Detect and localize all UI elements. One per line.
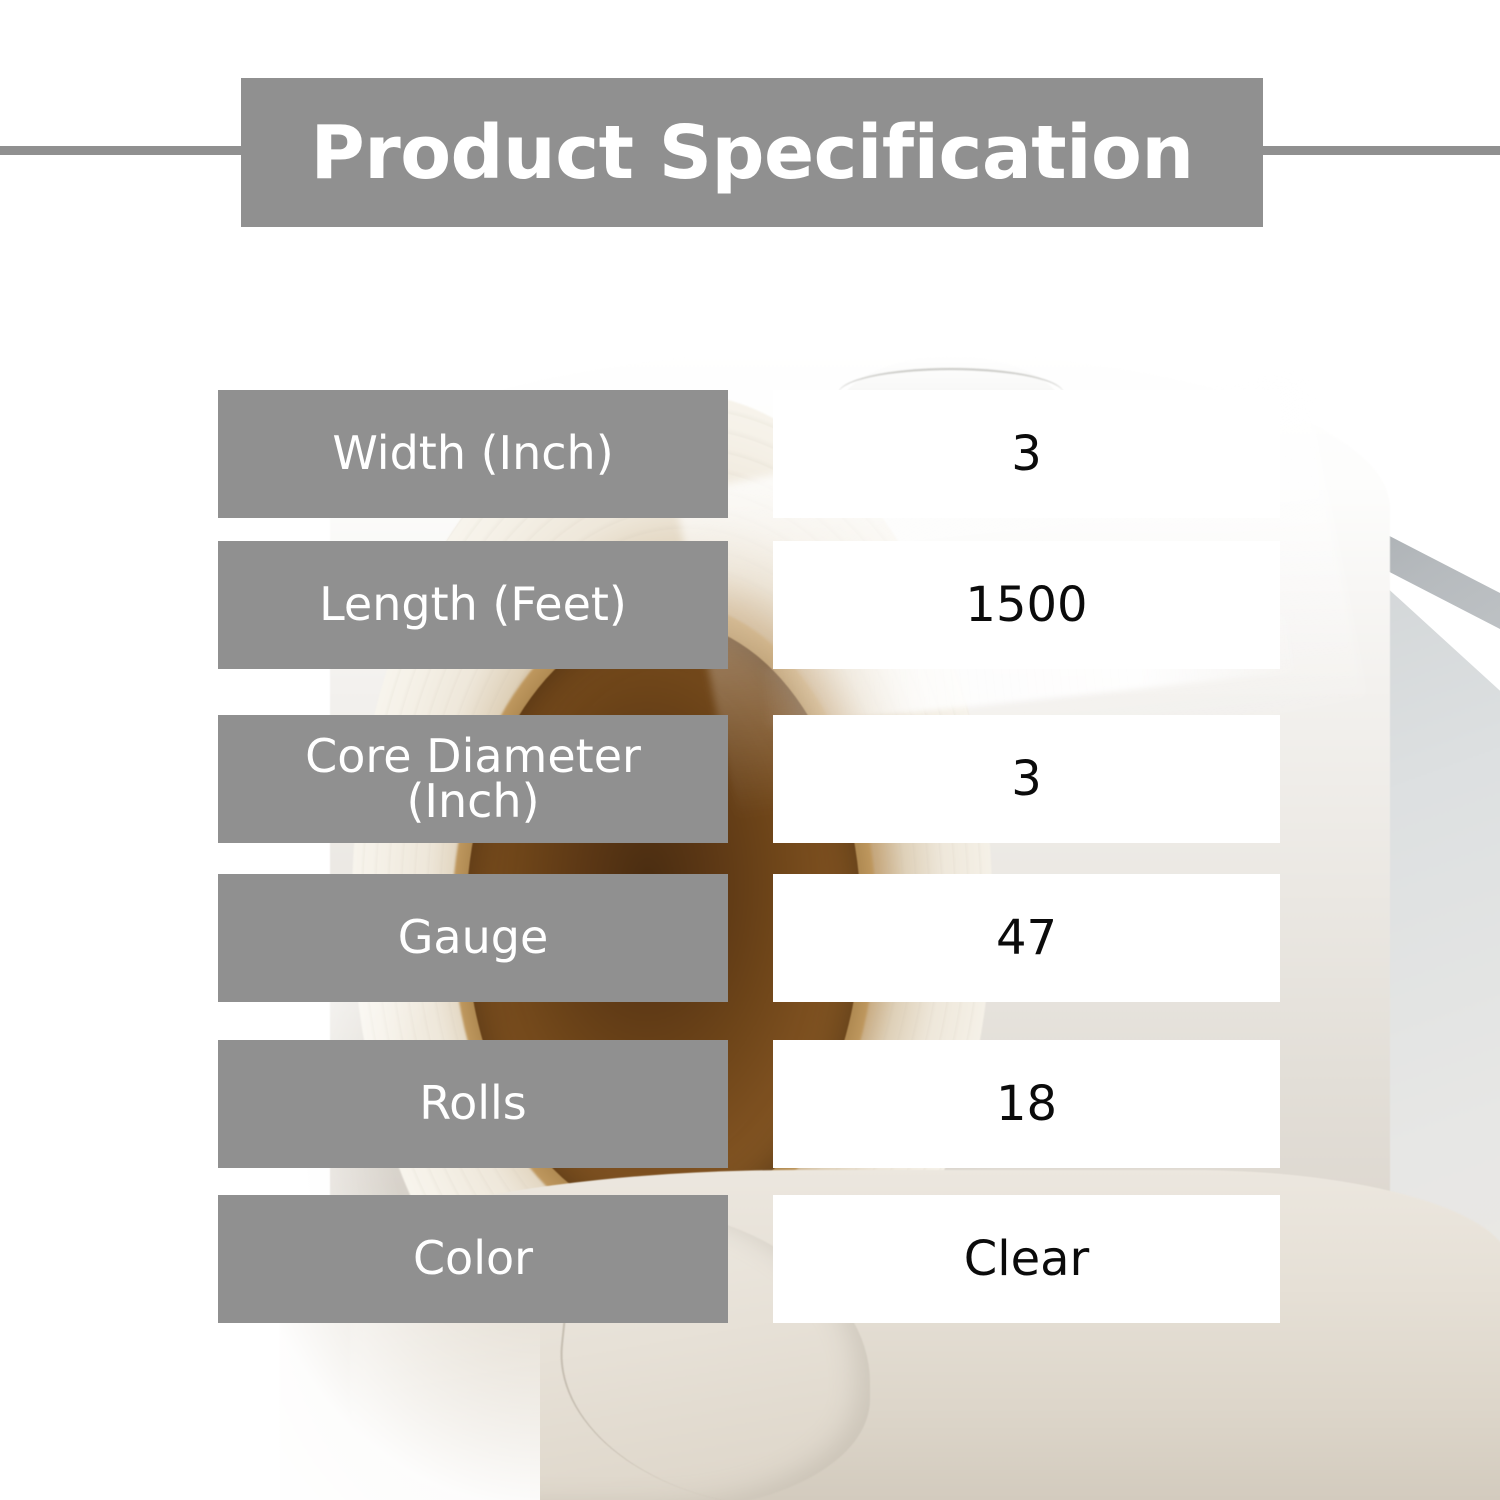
- spec-value-text: 3: [1011, 426, 1042, 482]
- spec-row: ColorClear: [218, 1195, 1280, 1323]
- spec-label-cell: Length (Feet): [218, 541, 728, 669]
- spec-value-text: Clear: [964, 1231, 1090, 1287]
- spec-label-cell: Width (Inch): [218, 390, 728, 518]
- spec-row: Gauge47: [218, 874, 1280, 1002]
- product-specification-page: Product Specification Width (Inch)3Lengt…: [0, 0, 1500, 1500]
- spec-label-text: Length (Feet): [319, 582, 627, 627]
- spec-value-text: 1500: [965, 577, 1087, 633]
- spec-value-text: 18: [996, 1076, 1057, 1132]
- spec-label-cell: Color: [218, 1195, 728, 1323]
- spec-value-cell: 47: [773, 874, 1280, 1002]
- spec-value-cell: 3: [773, 715, 1280, 843]
- spec-value-text: 3: [1011, 751, 1042, 807]
- spec-label-text: Color: [413, 1236, 533, 1281]
- spec-value-text: 47: [996, 910, 1057, 966]
- spec-value-cell: 1500: [773, 541, 1280, 669]
- spec-row: Rolls18: [218, 1040, 1280, 1168]
- spec-row: Core Diameter (Inch)3: [218, 715, 1280, 843]
- spec-label-cell: Gauge: [218, 874, 728, 1002]
- spec-label-text: Gauge: [398, 915, 549, 960]
- spec-label-cell: Core Diameter (Inch): [218, 715, 728, 843]
- spec-label-cell: Rolls: [218, 1040, 728, 1168]
- spec-value-cell: 3: [773, 390, 1280, 518]
- spec-label-text: Core Diameter (Inch): [305, 734, 641, 824]
- spec-label-text: Rolls: [419, 1081, 527, 1126]
- specification-table: Width (Inch)3Length (Feet)1500Core Diame…: [0, 0, 1500, 1500]
- spec-row: Length (Feet)1500: [218, 541, 1280, 669]
- spec-value-cell: Clear: [773, 1195, 1280, 1323]
- spec-row: Width (Inch)3: [218, 390, 1280, 518]
- spec-value-cell: 18: [773, 1040, 1280, 1168]
- spec-label-text: Width (Inch): [332, 431, 613, 476]
